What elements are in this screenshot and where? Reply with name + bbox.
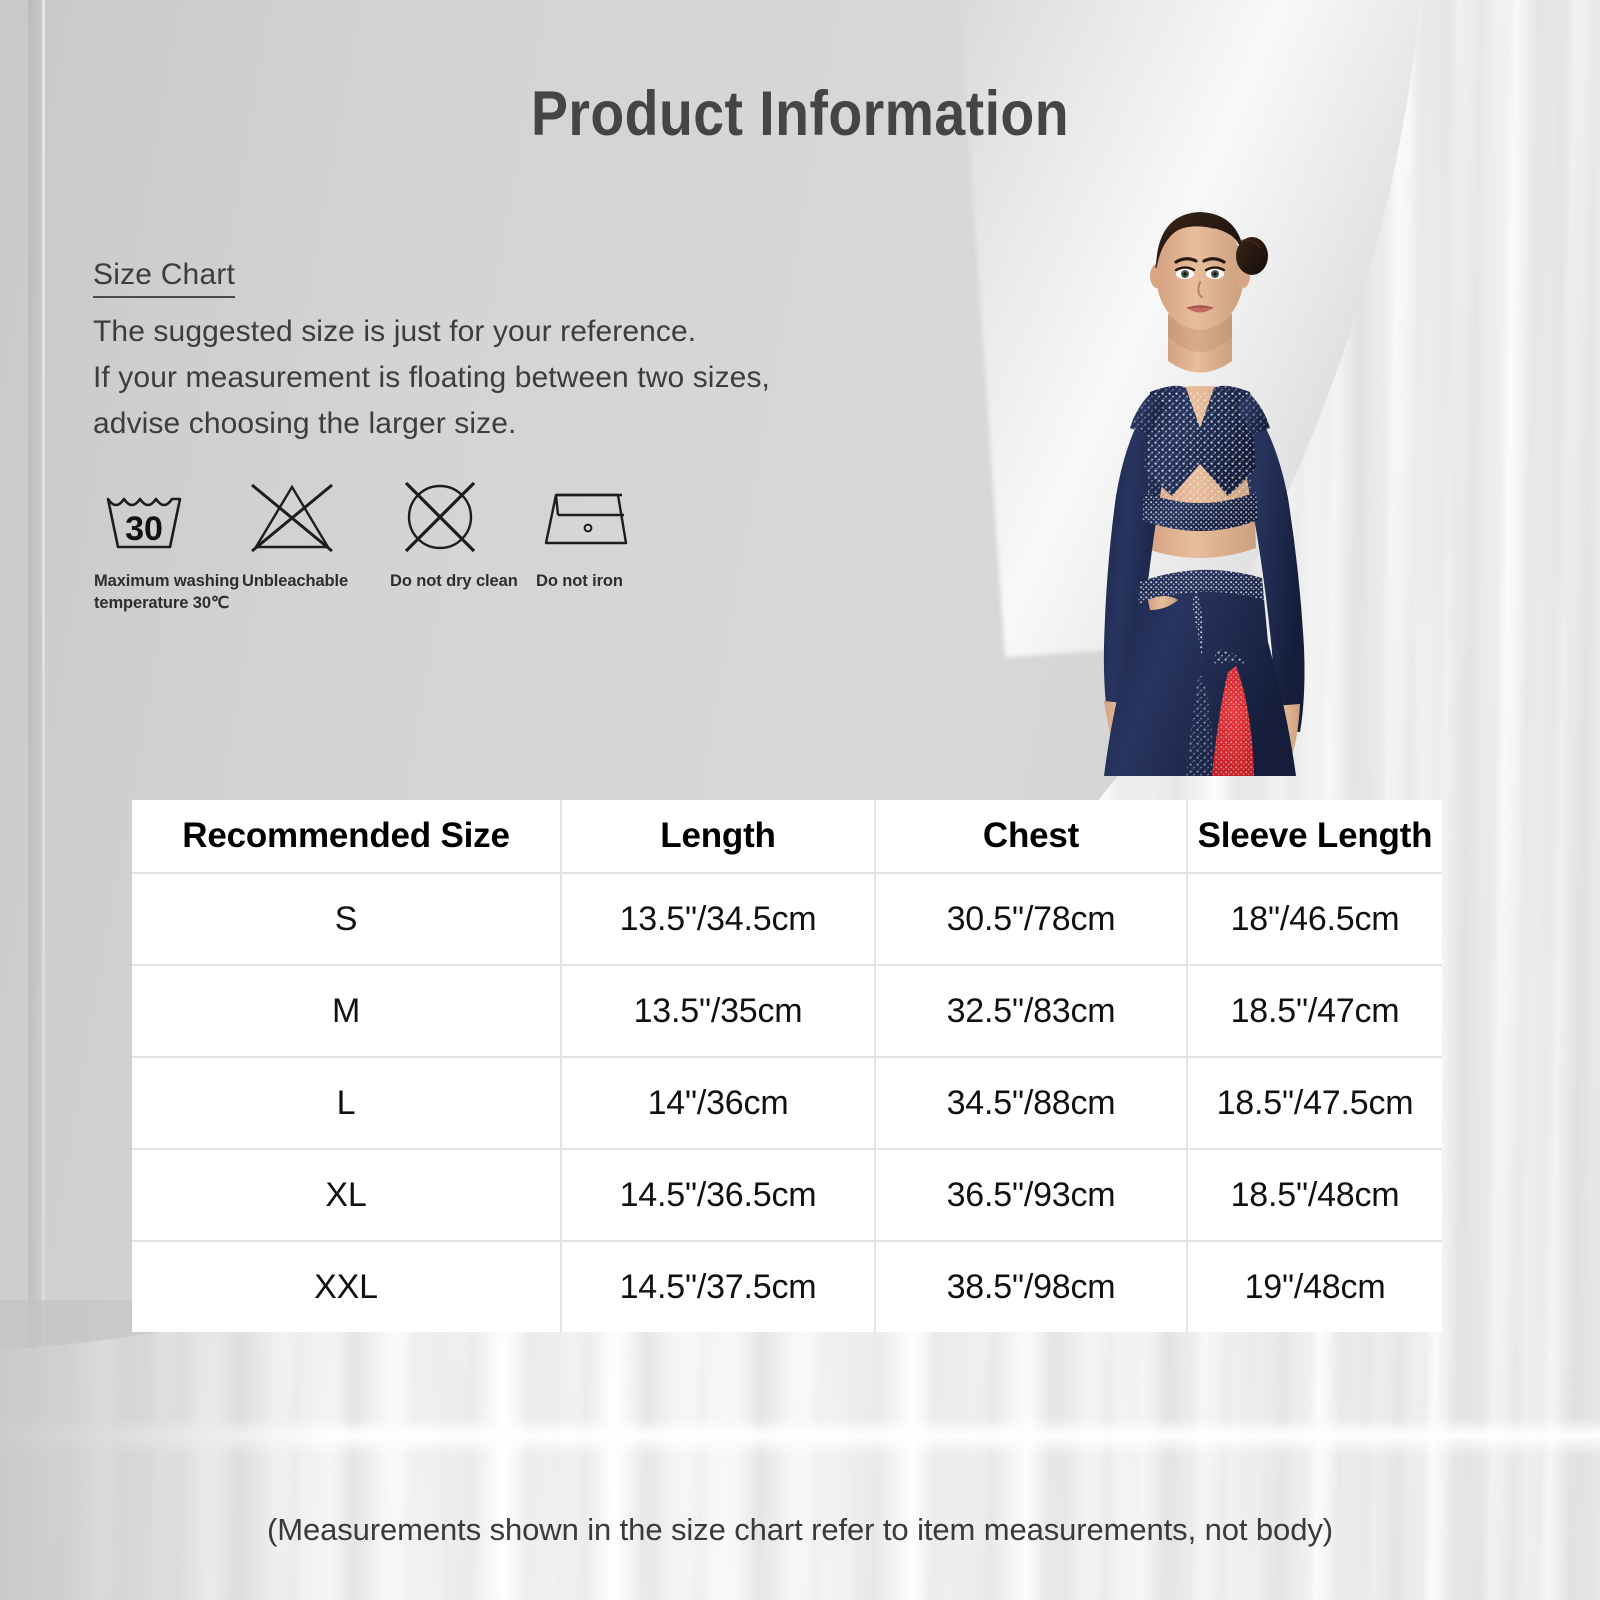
cell-sleeve-length: 18.5"/47.5cm — [1188, 1058, 1442, 1148]
size-chart-line-1: The suggested size is just for your refe… — [93, 309, 893, 355]
cell-length: 14.5"/37.5cm — [562, 1242, 876, 1332]
bottom-left-shadow — [0, 1300, 330, 1600]
column-header-chest: Chest — [876, 800, 1188, 872]
cell-chest: 34.5"/88cm — [876, 1058, 1188, 1148]
cell-length: 13.5"/34.5cm — [562, 874, 876, 964]
cell-chest: 30.5"/78cm — [876, 874, 1188, 964]
cell-length: 13.5"/35cm — [562, 966, 876, 1056]
cell-size: L — [132, 1058, 562, 1148]
care-symbol-label-do-not-dry-clean: Do not dry clean — [390, 570, 536, 592]
do-not-dry-clean-icon — [390, 478, 536, 556]
cell-size: M — [132, 966, 562, 1056]
column-header-recommended-size: Recommended Size — [132, 800, 562, 872]
care-symbol-unbleachable: Unbleachable — [242, 478, 390, 614]
column-header-length: Length — [562, 800, 876, 872]
size-chart-note: Size Chart The suggested size is just fo… — [93, 258, 893, 447]
wash-tub-30-icon: 30 — [94, 478, 242, 556]
cell-size: XL — [132, 1150, 562, 1240]
cell-chest: 32.5"/83cm — [876, 966, 1188, 1056]
cell-sleeve-length: 18"/46.5cm — [1188, 874, 1442, 964]
table-header-row: Recommended Size Length Chest Sleeve Len… — [132, 800, 1442, 874]
cell-sleeve-length: 18.5"/48cm — [1188, 1150, 1442, 1240]
care-symbol-label-do-not-iron: Do not iron — [536, 570, 684, 592]
column-header-sleeve-length: Sleeve Length — [1188, 800, 1442, 872]
table-row: S 13.5"/34.5cm 30.5"/78cm 18"/46.5cm — [132, 874, 1442, 966]
page-title: Product Information — [96, 78, 1504, 150]
cell-sleeve-length: 18.5"/47cm — [1188, 966, 1442, 1056]
size-chart-heading: Size Chart — [93, 258, 235, 298]
do-not-iron-icon — [536, 478, 684, 556]
care-symbol-do-not-dry-clean: Do not dry clean — [390, 478, 536, 614]
size-chart-line-2: If your measurement is floating between … — [93, 355, 893, 401]
table-row: M 13.5"/35cm 32.5"/83cm 18.5"/47cm — [132, 966, 1442, 1058]
care-symbol-max-wash-30: 30 Maximum washingtemperature 30℃ — [94, 478, 242, 614]
cell-chest: 36.5"/93cm — [876, 1150, 1188, 1240]
care-symbol-do-not-iron: Do not iron — [536, 478, 684, 614]
care-symbol-label-max-wash: Maximum washingtemperature 30℃ — [94, 570, 242, 614]
table-row: L 14"/36cm 34.5"/88cm 18.5"/47.5cm — [132, 1058, 1442, 1150]
size-table: Recommended Size Length Chest Sleeve Len… — [132, 800, 1442, 1332]
cell-sleeve-length: 19"/48cm — [1188, 1242, 1442, 1332]
care-symbols: 30 Maximum washingtemperature 30℃ Unblea… — [94, 478, 684, 614]
table-row: XL 14.5"/36.5cm 36.5"/93cm 18.5"/48cm — [132, 1150, 1442, 1242]
table-row: XXL 14.5"/37.5cm 38.5"/98cm 19"/48cm — [132, 1242, 1442, 1332]
care-symbol-label-unbleachable: Unbleachable — [242, 570, 390, 592]
svg-text:30: 30 — [125, 510, 163, 548]
size-chart-line-3: advise choosing the larger size. — [93, 401, 893, 447]
cell-length: 14.5"/36.5cm — [562, 1150, 876, 1240]
cell-size: S — [132, 874, 562, 964]
cell-length: 14"/36cm — [562, 1058, 876, 1148]
cell-size: XXL — [132, 1242, 562, 1332]
do-not-bleach-icon — [242, 478, 390, 556]
footer-note: (Measurements shown in the size chart re… — [0, 1512, 1600, 1548]
cell-chest: 38.5"/98cm — [876, 1242, 1188, 1332]
product-photo — [1000, 196, 1400, 776]
